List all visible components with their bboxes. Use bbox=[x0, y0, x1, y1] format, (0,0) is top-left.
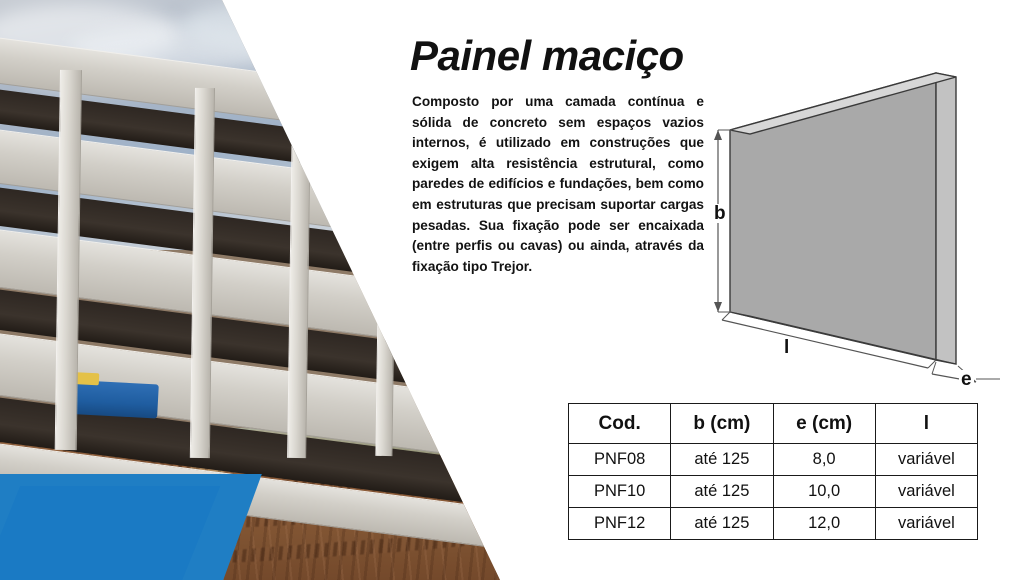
extension-line-l-left bbox=[722, 312, 730, 320]
cell-l: variável bbox=[875, 508, 977, 540]
construction-photo bbox=[0, 0, 510, 580]
dimension-label-e: e bbox=[959, 370, 974, 389]
table-row: PNF12 até 125 12,0 variável bbox=[569, 508, 978, 540]
dimension-label-b: b bbox=[712, 204, 728, 223]
cell-e: 10,0 bbox=[773, 476, 875, 508]
photo-canvas bbox=[0, 0, 510, 580]
cell-l: variável bbox=[875, 476, 977, 508]
cell-b: até 125 bbox=[671, 444, 773, 476]
panel-3d-diagram: b l e bbox=[700, 30, 1024, 398]
panel-front-face bbox=[730, 73, 936, 360]
cell-cod: PNF08 bbox=[569, 444, 671, 476]
cell-b: até 125 bbox=[671, 508, 773, 540]
table-row: PNF08 até 125 8,0 variável bbox=[569, 444, 978, 476]
description-paragraph: Composto por uma camada contínua e sólid… bbox=[412, 92, 704, 277]
table-row: PNF10 até 125 10,0 variável bbox=[569, 476, 978, 508]
cell-e: 8,0 bbox=[773, 444, 875, 476]
cell-b: até 125 bbox=[671, 476, 773, 508]
dimension-arrow-b-top bbox=[714, 130, 722, 140]
cell-cod: PNF10 bbox=[569, 476, 671, 508]
panel-spec-table: Cod. b (cm) e (cm) l PNF08 até 125 8,0 v… bbox=[568, 403, 978, 540]
panel-diagram-svg bbox=[700, 30, 1024, 398]
table-header-e: e (cm) bbox=[773, 404, 875, 444]
table-header-b: b (cm) bbox=[671, 404, 773, 444]
panel-thickness-face bbox=[936, 73, 956, 364]
page-title: Painel maciço bbox=[410, 32, 684, 80]
table-header-l: l bbox=[875, 404, 977, 444]
dimension-arrow-b-bottom bbox=[714, 302, 722, 312]
table-header-row: Cod. b (cm) e (cm) l bbox=[569, 404, 978, 444]
table-header-cod: Cod. bbox=[569, 404, 671, 444]
dimension-label-l: l bbox=[782, 338, 791, 357]
cell-cod: PNF12 bbox=[569, 508, 671, 540]
cell-e: 12,0 bbox=[773, 508, 875, 540]
cell-l: variável bbox=[875, 444, 977, 476]
slide-painel-macico: Painel maciço Composto por uma camada co… bbox=[0, 0, 1024, 580]
